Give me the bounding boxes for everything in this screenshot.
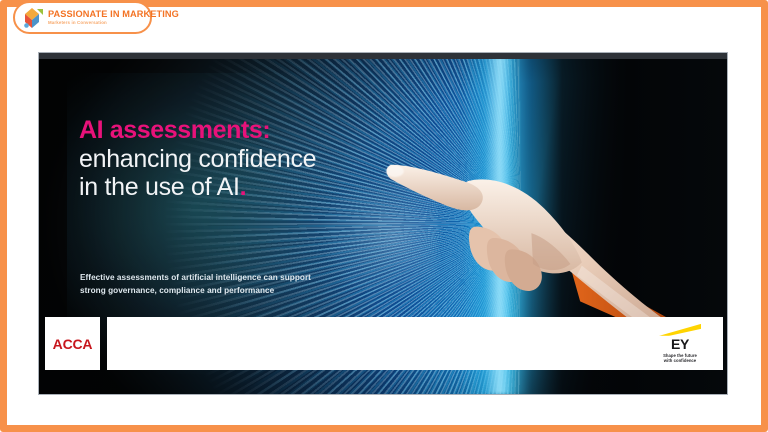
headline-line-3: in the use of AI.: [79, 173, 316, 202]
headline-line-3-text: in the use of AI: [79, 173, 240, 201]
headline-accent-period: .: [240, 173, 247, 201]
ey-tagline-line-1: Shape the future: [659, 352, 701, 358]
passionate-in-marketing-icon: [21, 6, 45, 30]
banner-top-strip: [39, 53, 727, 59]
ey-beam-icon: [659, 323, 701, 335]
headline-line-1: AI assessments:: [79, 116, 316, 145]
kicker-line-2: strong governance, compliance and perfor…: [80, 285, 311, 298]
site-logo-text: PASSIONATE IN MARKETING Marketers in Con…: [48, 10, 183, 26]
site-logo-badge[interactable]: PASSIONATE IN MARKETING Marketers in Con…: [13, 1, 152, 34]
banner-headline: AI assessments: enhancing confidence in …: [79, 116, 316, 202]
footer-white-bar: EY Shape the future with confidence: [107, 317, 723, 370]
ey-logo-text: EY: [659, 336, 701, 350]
acca-logo: ACCA: [45, 317, 100, 370]
ey-tagline: Shape the future with confidence: [659, 352, 701, 363]
kicker-line-1: Effective assessments of artificial inte…: [80, 272, 311, 285]
banner-image: AI assessments: enhancing confidence in …: [38, 52, 728, 395]
headline-line-2: enhancing confidence: [79, 145, 316, 174]
site-logo-tagline: Marketers in Conversation: [48, 21, 183, 25]
site-logo-title: PASSIONATE IN MARKETING: [48, 10, 179, 20]
acca-logo-text: ACCA: [53, 336, 93, 352]
ey-logo: EY Shape the future with confidence: [659, 323, 701, 363]
banner-kicker: Effective assessments of artificial inte…: [80, 272, 311, 297]
ey-tagline-line-2: with confidence: [659, 358, 701, 364]
page-frame: PASSIONATE IN MARKETING Marketers in Con…: [0, 0, 768, 432]
